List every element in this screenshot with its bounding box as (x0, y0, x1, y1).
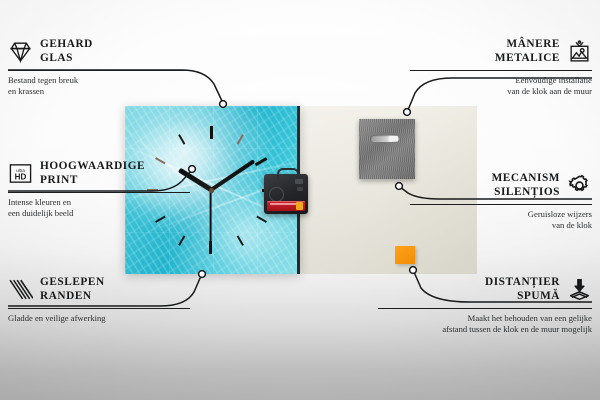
feature-header: GESLEPENRANDEN (8, 276, 190, 304)
foam-spacer (395, 246, 415, 264)
feature-subtitle: Bestand tegen breuken krassen (8, 75, 190, 97)
svg-text:HD: HD (15, 173, 27, 182)
feature-title: GEHARDGLAS (40, 38, 93, 66)
feature-manere-metalice: MÂNEREMETALICE Eenvoudige installatievan… (410, 38, 592, 97)
feature-divider (8, 192, 190, 193)
feature-subtitle: Gladde en veilige afwerking (8, 313, 190, 324)
feature-divider (410, 204, 592, 205)
clock-tick (210, 126, 212, 190)
feature-divider (378, 308, 592, 309)
feature-geslepen-randen: GESLEPENRANDEN Gladde en veilige afwerki… (8, 276, 190, 324)
battery-label (270, 203, 296, 205)
battery (267, 201, 305, 211)
feature-subtitle: Eenvoudige installatievan de klok aan de… (410, 75, 592, 97)
feature-divider (410, 70, 592, 71)
feature-title: MÂNEREMETALICE (495, 38, 560, 66)
feature-title: HOOGWAARDIGEPRINT (40, 160, 145, 188)
feature-gehard-glas: GEHARDGLAS Bestand tegen breuken krassen (8, 38, 190, 97)
feature-divider (8, 308, 190, 309)
feature-header: MÂNEREMETALICE (410, 38, 592, 66)
clock-second-hand (210, 190, 212, 248)
gear-icon (567, 173, 592, 198)
clock-center-hub (209, 188, 214, 193)
diamond-icon (8, 39, 33, 64)
mechanism-dial (269, 187, 284, 202)
feature-subtitle: Geruisloze wijzersvan de klok (410, 209, 592, 231)
feature-subtitle: Intense kleuren eneen duidelijk beeld (8, 197, 190, 219)
mechanism-button (297, 187, 303, 191)
mechanism-button (295, 179, 303, 184)
clock-mechanism (264, 174, 308, 214)
feature-title: DISTANȚIERSPUMĂ (485, 276, 560, 304)
feature-title: GESLEPENRANDEN (40, 276, 105, 304)
ultra-hd-icon: ultra HD (8, 161, 33, 186)
hanging-frame-icon (567, 39, 592, 64)
feature-mecanism-silentios: MECANISMSILENȚIOS Geruisloze wijzersvan … (410, 172, 592, 231)
feature-header: ultra HD HOOGWAARDIGEPRINT (8, 160, 190, 188)
diagonal-edges-icon (8, 277, 33, 302)
metal-mounting-plate (359, 119, 415, 179)
feature-divider (8, 70, 190, 71)
mechanism-hook (277, 168, 299, 179)
feature-subtitle: Maakt het behouden van een gelijkeafstan… (378, 313, 592, 335)
product-feature-infographic: GEHARDGLAS Bestand tegen breuken krassen… (0, 0, 600, 400)
feature-header: GEHARDGLAS (8, 38, 190, 66)
feature-title: MECANISMSILENȚIOS (492, 172, 560, 200)
plate-slot (371, 135, 399, 142)
feature-distantier-spuma: DISTANȚIERSPUMĂ Maakt het behouden van e… (378, 276, 592, 335)
feature-header: MECANISMSILENȚIOS (410, 172, 592, 200)
feature-header: DISTANȚIERSPUMĂ (378, 276, 592, 304)
down-arrow-stack-icon (567, 277, 592, 302)
feature-hoogwaardige-print: ultra HD HOOGWAARDIGEPRINT Intense kleur… (8, 160, 190, 219)
